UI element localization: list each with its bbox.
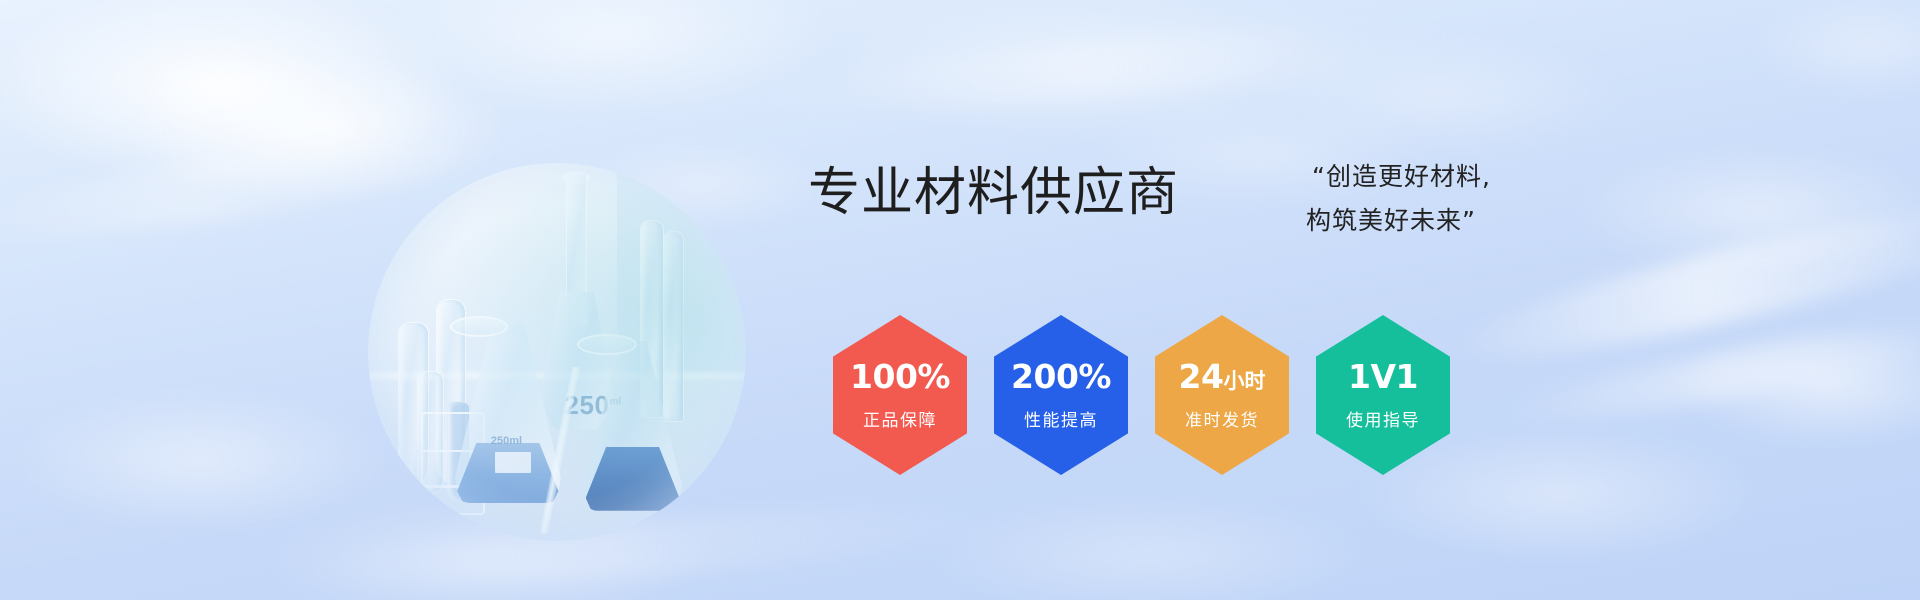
page-title: 专业材料供应商 [808,150,1179,225]
badge-value-number: 200% [1011,357,1111,396]
slogan-line-2: 构筑美好未来” [1306,199,1491,243]
badge-value-number: 1V1 [1348,357,1418,396]
badge-authentic[interactable]: 100% 正品保障 [833,315,967,475]
badge-value: 24小时 [1179,360,1266,393]
feature-badge-row: 100% 正品保障 200% 性能提高 24小时 准时发货 1V1 使用指导 [833,315,1450,475]
cloud-streak [759,10,1461,127]
badge-performance[interactable]: 200% 性能提高 [994,315,1128,475]
badge-label: 使用指导 [1346,406,1420,431]
slogan-line-1: “创造更好材料, [1312,162,1491,191]
badge-value-number: 100% [850,357,950,396]
sky-background [0,0,1920,600]
badge-label: 准时发货 [1185,406,1259,431]
badge-guidance[interactable]: 1V1 使用指导 [1316,315,1450,475]
slogan-quote: “创造更好材料, 构筑美好未来” [1312,155,1491,243]
badge-value: 100% [850,360,950,393]
cloud-shape [1700,0,1920,120]
badge-value-suffix: 小时 [1223,369,1265,393]
cloud-shape [300,0,920,150]
photo-edge-fade [368,163,746,541]
cloud-shape [720,0,1480,170]
badge-label: 性能提高 [1024,406,1098,431]
badge-value-number: 24 [1179,357,1224,396]
badge-value: 1V1 [1348,360,1418,393]
badge-shipping[interactable]: 24小时 准时发货 [1155,315,1289,475]
hero-banner: 250ml 250ml 专业材料供应商 “创造更好材料, 构筑美好未来” 100… [0,0,1920,600]
cloud-shape [840,470,1460,600]
cloud-streak [1500,309,1920,438]
lab-photo-circle: 250ml 250ml [368,163,746,541]
cloud-shape [1620,300,1920,470]
cloud-shape [1500,120,1920,300]
cloud-streak [1449,188,1920,382]
badge-label: 正品保障 [863,406,937,431]
badge-value: 200% [1011,360,1111,393]
